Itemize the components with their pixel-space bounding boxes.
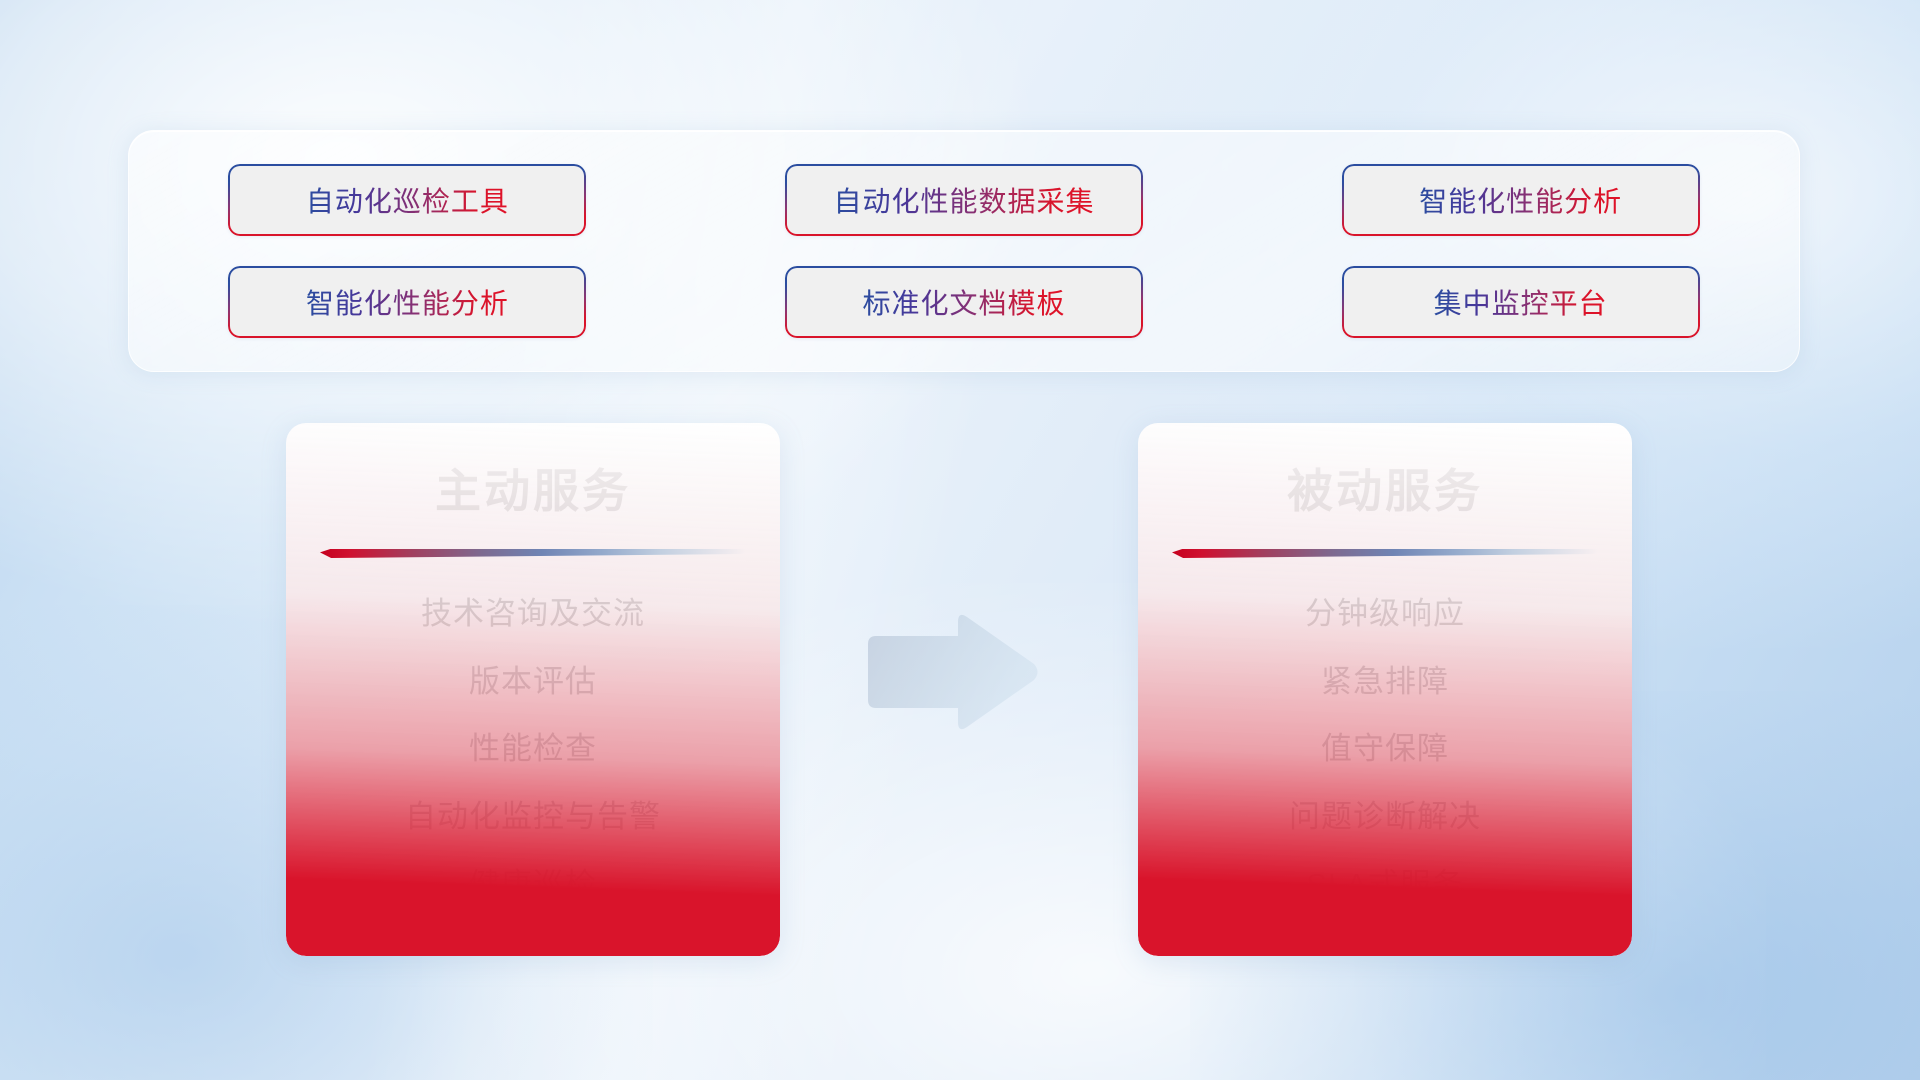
list-item: 版本评估 — [469, 662, 597, 702]
tag-chip-automated-performance-data-collection[interactable]: 自动化性能数据采集 — [785, 164, 1143, 236]
divider-gradient-bar — [1172, 549, 1598, 558]
service-item-list: 分钟级响应 紧急排障 值守保障 问题诊断解决 SLA式服务 — [1138, 594, 1632, 904]
card-title: 主动服务 — [286, 455, 780, 521]
tag-label: 自动化巡检工具 — [306, 180, 509, 220]
card-title-divider — [320, 549, 746, 558]
list-item: 健康巡检 — [469, 865, 597, 905]
tag-row-1: 自动化巡检工具 自动化性能数据采集 智能化性能分析 — [129, 164, 1799, 236]
tag-chip-centralized-monitoring-platform[interactable]: 集中监控平台 — [1342, 266, 1700, 338]
list-item: 性能检查 — [469, 729, 597, 769]
card-title: 被动服务 — [1138, 455, 1632, 521]
tag-label: 标准化文档模板 — [862, 282, 1065, 322]
service-card-proactive: 主动服务 技术咨询及交流 版本评估 性能检查 自动化监控与告警 健康巡检 — [286, 423, 780, 956]
list-item: 紧急排障 — [1321, 662, 1449, 702]
tag-label: 自动化性能数据采集 — [833, 180, 1094, 220]
list-item: 问题诊断解决 — [1289, 797, 1481, 837]
tag-chip-automated-inspection-tool[interactable]: 自动化巡检工具 — [228, 164, 586, 236]
tag-label: 智能化性能分析 — [306, 282, 509, 322]
service-card-reactive: 被动服务 分钟级响应 紧急排障 值守保障 问题诊断解决 SLA式服务 — [1138, 423, 1632, 956]
tag-chip-intelligent-performance-analysis-bottom[interactable]: 智能化性能分析 — [228, 266, 586, 338]
list-item: SLA式服务 — [1306, 865, 1464, 905]
divider-gradient-bar — [320, 549, 746, 558]
tag-label: 集中监控平台 — [1434, 282, 1608, 322]
tag-chip-intelligent-performance-analysis-top[interactable]: 智能化性能分析 — [1342, 164, 1700, 236]
list-item: 技术咨询及交流 — [421, 594, 645, 634]
tag-label: 智能化性能分析 — [1419, 180, 1622, 220]
service-item-list: 技术咨询及交流 版本评估 性能检查 自动化监控与告警 健康巡检 — [286, 594, 780, 904]
tag-chip-standardized-document-template[interactable]: 标准化文档模板 — [785, 266, 1143, 338]
list-item: 值守保障 — [1321, 729, 1449, 769]
tag-row-2: 智能化性能分析 标准化文档模板 集中监控平台 — [129, 266, 1799, 338]
capability-tag-panel: 自动化巡检工具 自动化性能数据采集 智能化性能分析 智能化性能分析 标准化文档模… — [128, 130, 1800, 372]
card-title-divider — [1172, 549, 1598, 558]
list-item: 自动化监控与告警 — [405, 797, 661, 837]
list-item: 分钟级响应 — [1305, 594, 1465, 634]
arrow-right-icon — [862, 608, 1042, 736]
